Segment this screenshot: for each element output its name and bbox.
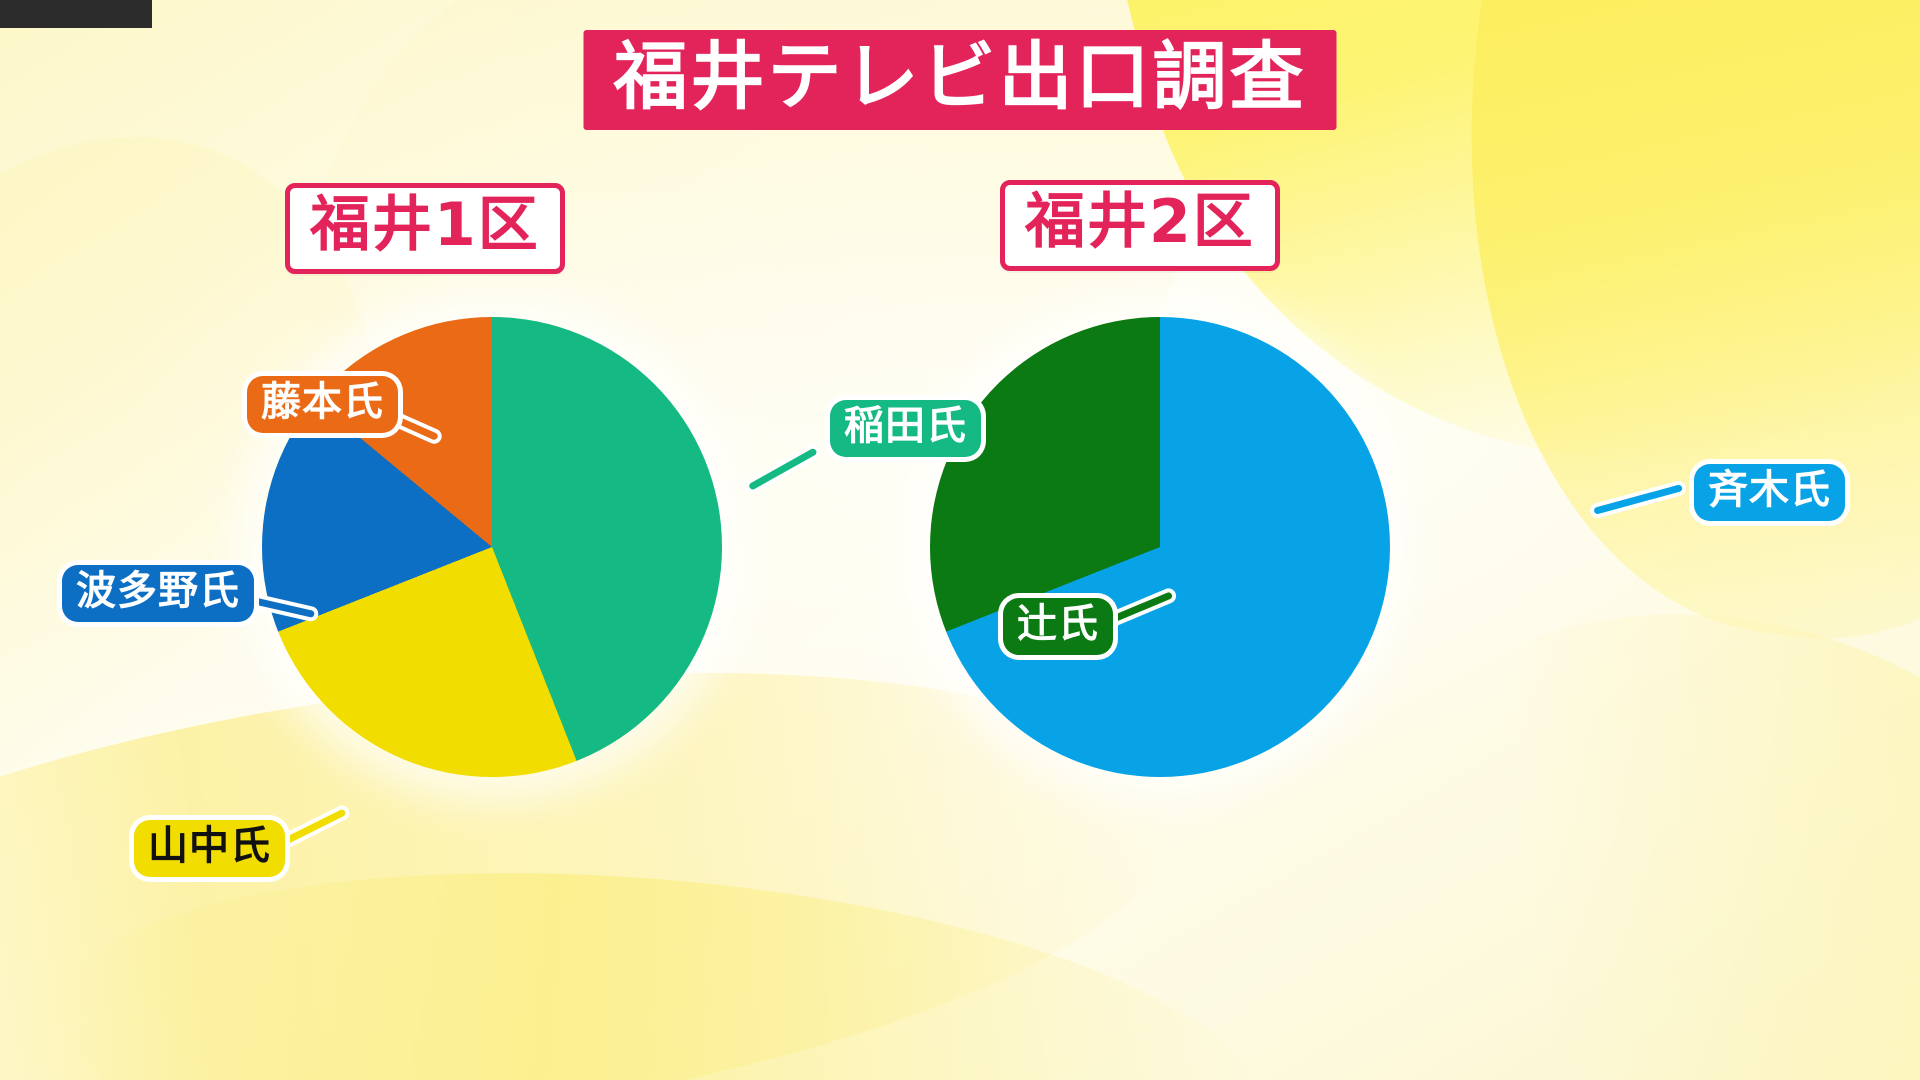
callout-label: 藤本氏: [261, 378, 384, 426]
district-title-text: 福井1区: [310, 192, 540, 259]
corner-badge: [0, 0, 152, 28]
callout-label: 山中氏: [148, 822, 271, 870]
callout-label: 波多野氏: [76, 567, 240, 615]
callout-inada[interactable]: 稲田氏: [830, 400, 981, 457]
page-title-text: 福井テレビ出口調査: [614, 40, 1307, 114]
callout-label: 辻氏: [1017, 600, 1099, 648]
callout-hatano[interactable]: 波多野氏: [62, 565, 254, 622]
callout-label: 稲田氏: [844, 402, 967, 450]
callout-yamanaka[interactable]: 山中氏: [134, 820, 285, 877]
callout-fujimoto[interactable]: 藤本氏: [247, 376, 398, 433]
callout-saiki[interactable]: 斉木氏: [1694, 464, 1845, 521]
callout-label: 斉木氏: [1708, 466, 1831, 514]
callout-tsuji[interactable]: 辻氏: [1003, 598, 1113, 655]
district-title-fukui-1: 福井1区: [285, 183, 565, 274]
pie-chart-fukui-2: [930, 317, 1390, 777]
district-title-text: 福井2区: [1025, 189, 1255, 256]
district-title-fukui-2: 福井2区: [1000, 180, 1280, 271]
page-title: 福井テレビ出口調査: [584, 30, 1337, 130]
